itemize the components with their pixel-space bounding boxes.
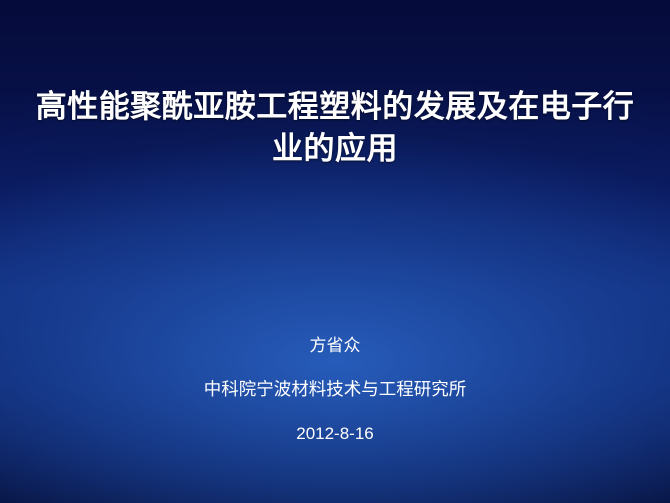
slide-author: 方省众 (0, 336, 670, 356)
slide-date: 2012-8-16 (0, 424, 670, 444)
slide-affiliation: 中科院宁波材料技术与工程研究所 (0, 380, 670, 401)
slide-title: 高性能聚酰亚胺工程塑料的发展及在电子行业的应用 (34, 86, 636, 170)
presentation-title-slide: 高性能聚酰亚胺工程塑料的发展及在电子行业的应用 方省众 中科院宁波材料技术与工程… (0, 0, 670, 503)
